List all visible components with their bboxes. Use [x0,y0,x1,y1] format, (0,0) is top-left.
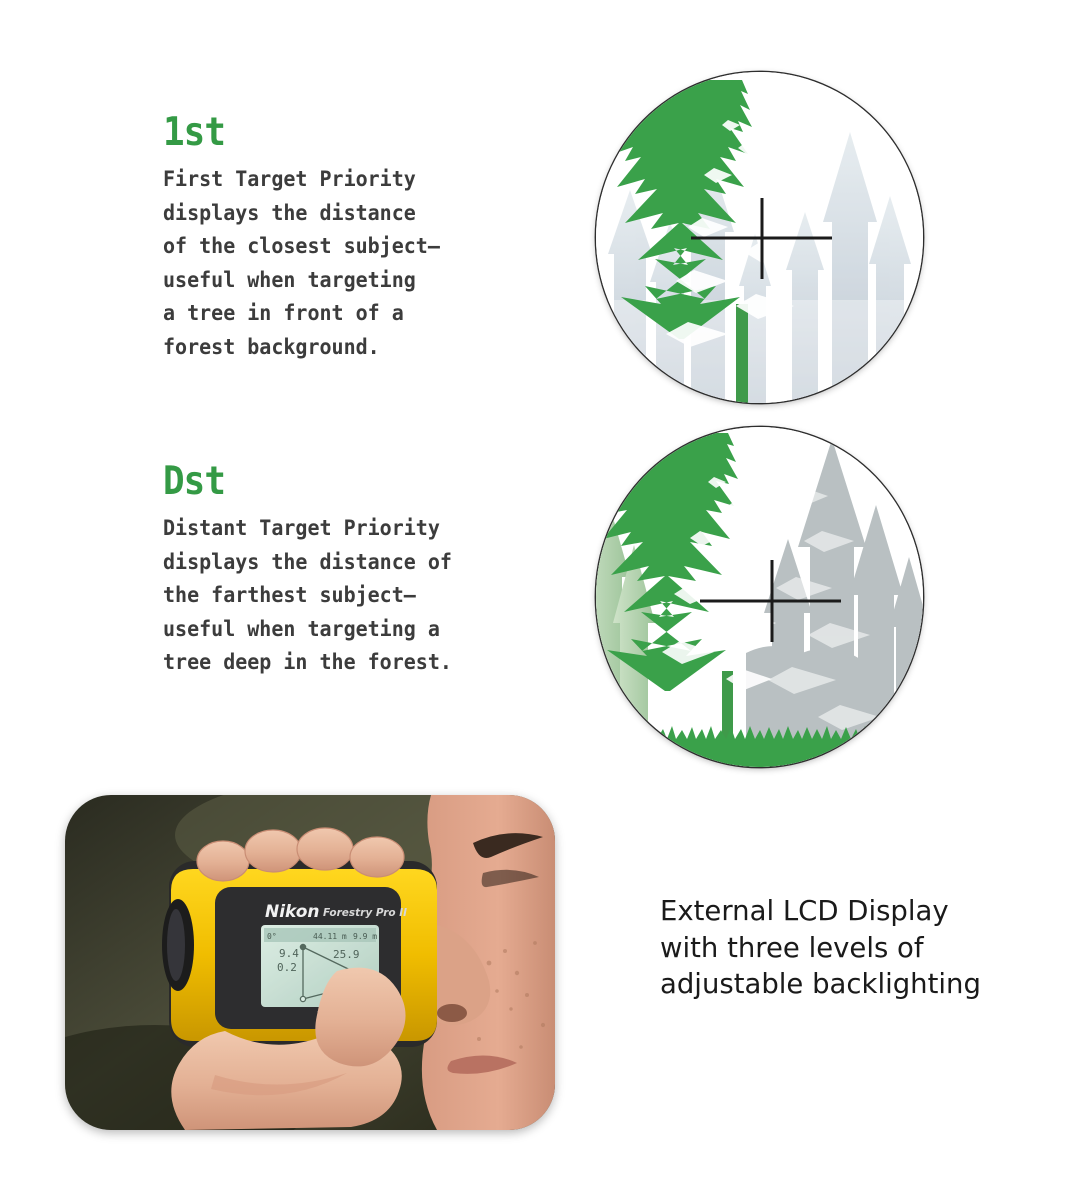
objective-lens-glass [167,909,185,981]
body-first-target-priority: First Target Priority displays the dista… [163,163,440,364]
feature-block-first-target-priority: 1st First Target Priority displays the d… [163,112,461,364]
finger-4 [350,837,404,877]
scope-illustration-first-target [596,72,923,403]
heading-first-target-priority: 1st [163,112,437,154]
rangefinder-photo-illustration: Nikon Forestry Pro II WATERPROOF 0° 44.1… [65,795,555,1130]
finger-2 [245,830,301,872]
model-label: Forestry Pro II [323,907,407,919]
rangefinder-in-use-photo: Nikon Forestry Pro II WATERPROOF 0° 44.1… [65,795,555,1130]
scope-illustration-distant-target [596,427,923,767]
scope-view-first-target [596,72,923,403]
body-distant-target-priority: Distant Target Priority displays the dis… [163,512,452,680]
external-lcd-caption: External LCD Display with three levels o… [660,893,1060,1003]
heading-distant-target-priority: Dst [163,461,449,503]
near-tree-trunk [736,304,748,403]
finger-1 [197,841,249,881]
scope-view-distant-target [596,427,923,767]
feature-block-distant-target-priority: Dst Distant Target Priority displays the… [163,461,474,680]
nostril [437,1004,467,1022]
brand-label: Nikon [265,902,320,922]
finger-3 [297,828,353,870]
